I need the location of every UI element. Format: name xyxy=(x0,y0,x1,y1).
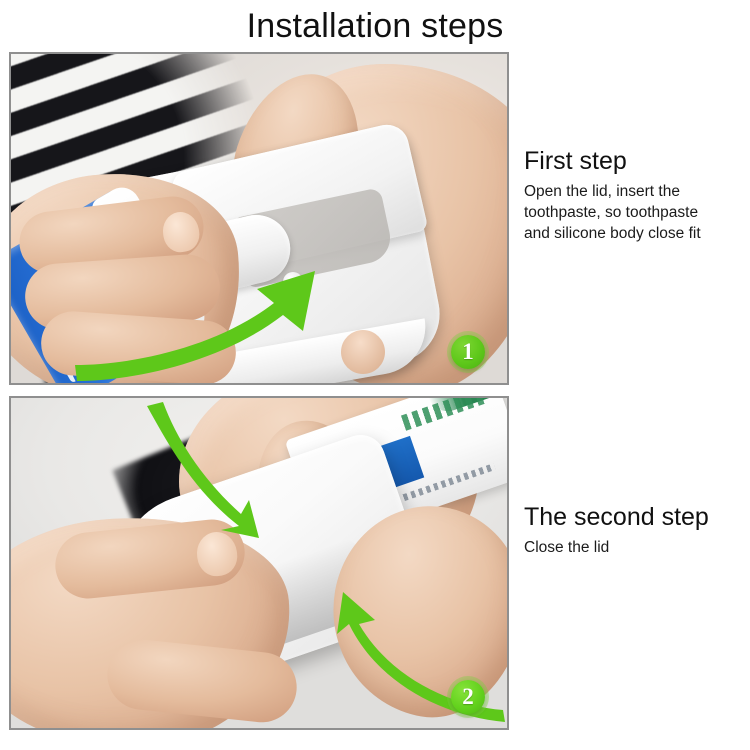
step-1-photo-panel: 1 xyxy=(9,52,509,385)
step-2-badge: 2 xyxy=(451,680,485,714)
step-1-body: Open the lid, insert the toothpaste, so … xyxy=(524,181,750,244)
step-2-heading: The second step xyxy=(524,502,750,533)
step-2-body-line: Close the lid xyxy=(524,537,750,558)
insert-direction-arrow-icon xyxy=(71,259,361,385)
close-lid-arrow-down-icon xyxy=(129,400,279,540)
step-1-heading: First step xyxy=(524,146,750,177)
step-1-body-line: and silicone body close fit xyxy=(524,223,750,244)
step-2-body: Close the lid xyxy=(524,537,750,558)
step-1-body-line: toothpaste, so toothpaste xyxy=(524,202,750,223)
photo-scene-1: 1 xyxy=(11,54,507,383)
photo-scene-2: 2 xyxy=(11,398,507,728)
step-2-text-block: The second step Close the lid xyxy=(524,502,750,558)
step-1-body-line: Open the lid, insert the xyxy=(524,181,750,202)
page-title: Installation steps xyxy=(0,4,750,48)
step-1-text-block: First step Open the lid, insert the toot… xyxy=(524,146,750,244)
step-1-badge: 1 xyxy=(451,335,485,369)
step-2-photo-panel: 2 xyxy=(9,396,509,730)
